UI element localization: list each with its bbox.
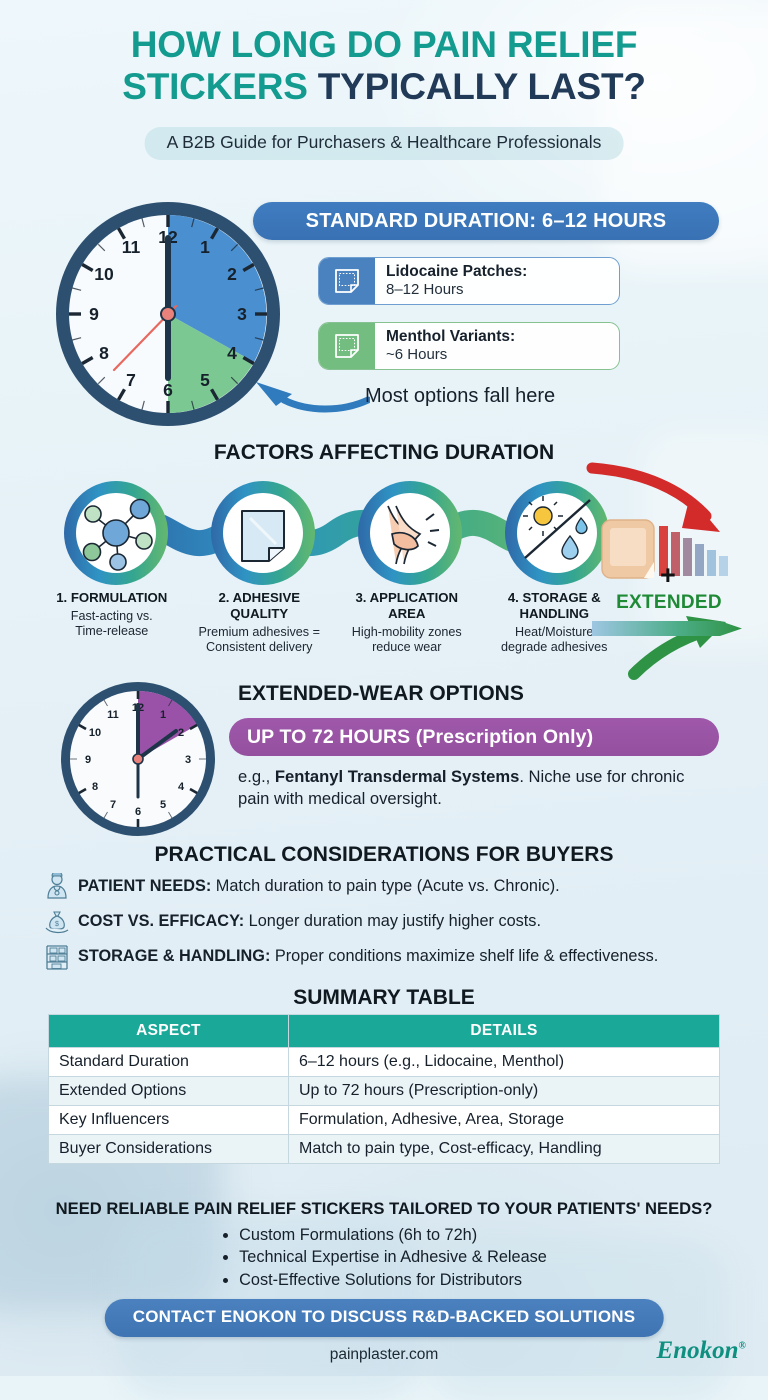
cell-aspect: Extended Options	[49, 1077, 289, 1106]
patch-icon	[319, 258, 375, 304]
enokon-logo: Enokon®	[657, 1337, 746, 1365]
patch-bandage-icon	[602, 520, 654, 578]
title-line2-navy: TYPICALLY LAST?	[318, 66, 646, 107]
table-header-row: ASPECT DETAILS	[49, 1015, 720, 1048]
svg-text:8: 8	[99, 343, 109, 363]
note-bold: Fentanyl Transdermal Systems	[275, 767, 519, 786]
practical-heading: PRACTICAL CONSIDERATIONS FOR BUYERS	[0, 843, 768, 867]
factor-desc: Premium adhesives =Consistent delivery	[189, 625, 331, 655]
table-row: Key Influencers Formulation, Adhesive, A…	[49, 1106, 720, 1135]
list-item-body: Match duration to pain type (Acute vs. C…	[211, 877, 559, 895]
registered-mark: ®	[739, 1341, 746, 1352]
svg-text:11: 11	[107, 709, 119, 721]
list-item-text: PATIENT NEEDS: Match duration to pain ty…	[72, 877, 560, 896]
cell-aspect: Standard Duration	[49, 1048, 289, 1077]
summary-table: ASPECT DETAILS Standard Duration 6–12 ho…	[48, 1014, 720, 1164]
svg-text:7: 7	[126, 370, 136, 390]
svg-text:11: 11	[122, 237, 141, 257]
list-item-label: STORAGE & HANDLING:	[78, 947, 270, 965]
doctor-icon	[42, 873, 72, 901]
factor-application-area: 3. APPLICATIONAREA High-mobility zonesre…	[333, 590, 481, 655]
svg-text:6: 6	[163, 380, 173, 400]
svg-text:9: 9	[85, 754, 91, 766]
factor-adhesive-quality: 2. ADHESIVEQUALITY Premium adhesives =Co…	[186, 590, 334, 655]
page-subtitle: A B2B Guide for Purchasers & Healthcare …	[145, 127, 624, 160]
shelf-icon	[42, 943, 72, 971]
website-url[interactable]: painplaster.com	[0, 1346, 768, 1364]
column-header-details: DETAILS	[289, 1015, 720, 1048]
standard-item-menthol: Menthol Variants: ~6 Hours	[318, 322, 620, 370]
cell-aspect: Key Influencers	[49, 1106, 289, 1135]
infographic-page: HOW LONG DO PAIN RELIEF STICKERS TYPICAL…	[0, 0, 768, 1376]
list-item: Technical Expertise in Adhesive & Releas…	[239, 1246, 547, 1268]
list-item-text: STORAGE & HANDLING: Proper conditions ma…	[72, 947, 658, 966]
list-item-body: Proper conditions maximize shelf life & …	[270, 947, 658, 965]
factor-formulation: 1. FORMULATION Fast-acting vs.Time-relea…	[38, 590, 186, 655]
column-header-aspect: ASPECT	[49, 1015, 289, 1048]
most-options-callout: Most options fall here	[365, 385, 555, 408]
item-value: 8–12 Hours	[386, 281, 527, 299]
table-row: Standard Duration 6–12 hours (e.g., Lido…	[49, 1048, 720, 1077]
extended-note: e.g., Fentanyl Transdermal Systems. Nich…	[238, 766, 708, 810]
page-title: HOW LONG DO PAIN RELIEF STICKERS TYPICAL…	[0, 24, 768, 108]
list-item: $ COST VS. EFFICACY: Longer duration may…	[42, 906, 732, 937]
svg-text:4: 4	[227, 343, 237, 363]
list-item-label: COST VS. EFFICACY:	[78, 912, 244, 930]
svg-text:8: 8	[92, 781, 98, 793]
standard-item-lidocaine: Lidocaine Patches: 8–12 Hours	[318, 257, 620, 305]
cell-details: Up to 72 hours (Prescription-only)	[289, 1077, 720, 1106]
svg-text:1: 1	[160, 709, 166, 721]
extended-wear-clock: 1212 345 678 91011	[58, 679, 218, 839]
factors-labels: 1. FORMULATION Fast-acting vs.Time-relea…	[38, 590, 628, 655]
money-bag-icon: $	[42, 908, 72, 936]
svg-text:7: 7	[110, 799, 116, 811]
svg-text:2: 2	[227, 264, 237, 284]
cell-details: Formulation, Adhesive, Area, Storage	[289, 1106, 720, 1135]
svg-text:6: 6	[135, 806, 141, 818]
factor-title: 1. FORMULATION	[41, 590, 183, 606]
cta-bullets: Custom Formulations (6h to 72h) Technica…	[0, 1224, 768, 1291]
svg-text:5: 5	[200, 370, 210, 390]
list-item: Custom Formulations (6h to 72h)	[239, 1224, 547, 1246]
list-item: PATIENT NEEDS: Match duration to pain ty…	[42, 871, 732, 902]
extended-gradient-arrow	[592, 619, 742, 638]
extended-label: EXTENDED	[586, 592, 752, 614]
svg-text:10: 10	[89, 727, 101, 739]
patch-square-icon	[242, 511, 284, 561]
factors-chain	[60, 478, 625, 588]
list-item-label: PATIENT NEEDS:	[78, 877, 211, 895]
factor-desc: Fast-acting vs.Time-release	[41, 609, 183, 639]
svg-text:5: 5	[160, 799, 166, 811]
list-item: STORAGE & HANDLING: Proper conditions ma…	[42, 941, 732, 972]
summary-heading: SUMMARY TABLE	[0, 986, 768, 1010]
note-pre: e.g.,	[238, 767, 275, 786]
patch-icon	[319, 323, 375, 369]
logo-text: Enokon	[657, 1337, 739, 1364]
standard-duration-banner: STANDARD DURATION: 6–12 HOURS	[253, 202, 719, 240]
svg-text:1: 1	[200, 237, 210, 257]
list-item-text: COST VS. EFFICACY: Longer duration may j…	[72, 912, 541, 931]
factor-title: 3. APPLICATIONAREA	[336, 590, 478, 622]
practical-list: PATIENT NEEDS: Match duration to pain ty…	[42, 871, 732, 976]
cta-heading: NEED RELIABLE PAIN RELIEF STICKERS TAILO…	[0, 1199, 768, 1219]
svg-text:9: 9	[89, 304, 99, 324]
extended-heading: EXTENDED-WEAR OPTIONS	[238, 682, 524, 706]
curved-arrow-left-icon	[250, 372, 370, 416]
item-title: Lidocaine Patches:	[386, 263, 527, 282]
cell-details: 6–12 hours (e.g., Lidocaine, Menthol)	[289, 1048, 720, 1077]
cell-aspect: Buyer Considerations	[49, 1135, 289, 1164]
item-title: Menthol Variants:	[386, 328, 515, 347]
svg-text:3: 3	[185, 754, 191, 766]
table-row: Extended Options Up to 72 hours (Prescri…	[49, 1077, 720, 1106]
title-line1: HOW LONG DO PAIN RELIEF	[131, 24, 638, 65]
svg-text:3: 3	[237, 304, 247, 324]
extended-banner: UP TO 72 HOURS (Prescription Only)	[229, 718, 719, 756]
list-item-body: Longer duration may justify higher costs…	[244, 912, 541, 930]
item-value: ~6 Hours	[386, 346, 515, 364]
factor-title: 2. ADHESIVEQUALITY	[189, 590, 331, 622]
cell-details: Match to pain type, Cost-efficacy, Handl…	[289, 1135, 720, 1164]
list-item: Cost-Effective Solutions for Distributor…	[239, 1269, 547, 1291]
svg-text:4: 4	[178, 781, 185, 793]
table-row: Buyer Considerations Match to pain type,…	[49, 1135, 720, 1164]
plus-sign: +	[660, 560, 676, 591]
svg-text:10: 10	[94, 264, 114, 284]
svg-text:$: $	[55, 921, 59, 928]
contact-button[interactable]: CONTACT ENOKON TO DISCUSS R&D-BACKED SOL…	[105, 1299, 664, 1337]
svg-text:2: 2	[178, 727, 184, 739]
factor-desc: High-mobility zonesreduce wear	[336, 625, 478, 655]
title-line2-teal: STICKERS	[122, 66, 318, 107]
